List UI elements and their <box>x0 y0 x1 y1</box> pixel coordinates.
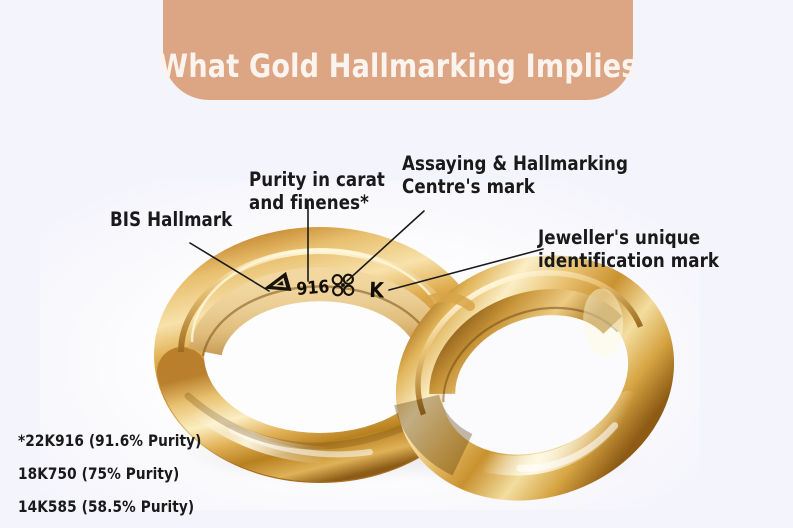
callout-label-purity-carat: Purity in carat and finenes* <box>249 168 385 214</box>
callout-label-assaying-centre: Assaying & Hallmarking Centre's mark <box>402 152 628 198</box>
page-title: What Gold Hallmarking Implies <box>158 50 637 84</box>
callout-label-jeweller-identification: Jeweller's unique identification mark <box>538 226 719 272</box>
title-banner: What Gold Hallmarking Implies <box>163 0 633 100</box>
purity-footnotes: *22K916 (91.6% Purity) 18K750 (75% Purit… <box>18 424 202 523</box>
infographic-canvas: 916 K What Gold Hallmarking Implies BIS … <box>0 0 793 528</box>
footnote-14k: 14K585 (58.5% Purity) <box>18 490 202 523</box>
callout-label-bis-hallmark: BIS Hallmark <box>110 208 232 231</box>
footnote-18k: 18K750 (75% Purity) <box>18 457 202 490</box>
footnote-22k: *22K916 (91.6% Purity) <box>18 424 202 457</box>
